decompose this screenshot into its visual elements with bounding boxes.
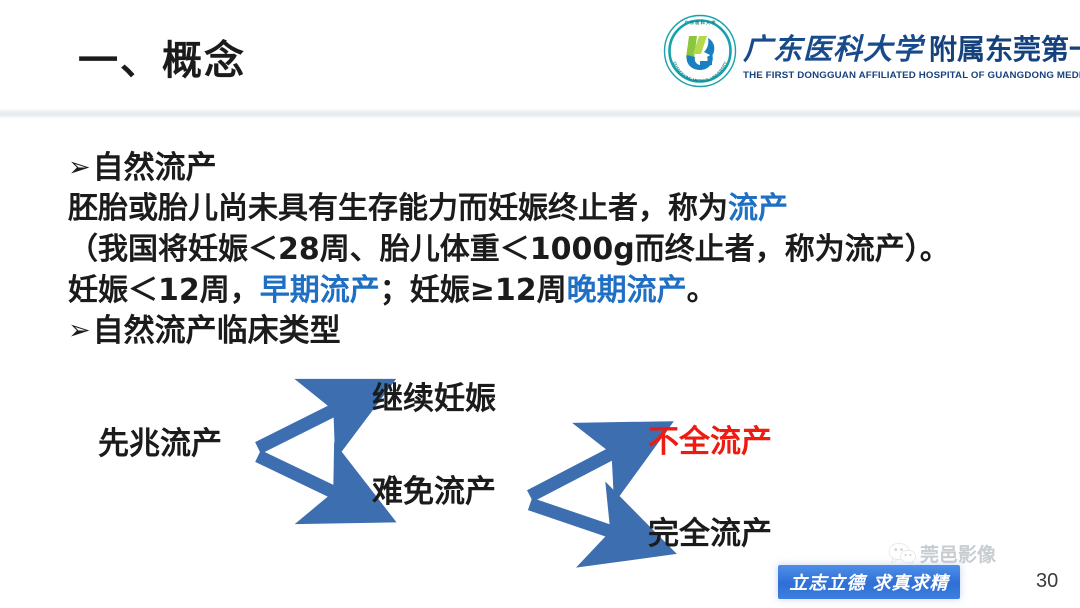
svg-text:广 东 医 科 大 学: 广 东 医 科 大 学 xyxy=(685,19,717,26)
slide-body: ➢ 自然流产 胚胎或胎儿尚未具有生存能力而妊娠终止者，称为流产 （我国将妊娠＜2… xyxy=(68,148,1028,351)
motto-text: 立志立德 求真求精 xyxy=(789,569,948,595)
flow-arrows xyxy=(0,368,1080,568)
flow-node-complete-abortion: 完全流产 xyxy=(648,508,772,553)
definition-line-3-b: ；妊娠≥12周 xyxy=(380,273,567,308)
heading-text: 自然流产临床类型 xyxy=(93,311,341,351)
hospital-university-name: 广东医科大学 xyxy=(743,26,923,68)
definition-line-3-a: 妊娠＜12周， xyxy=(68,273,260,308)
bullet-heading-natural-abortion: ➢ 自然流产 xyxy=(68,148,1028,188)
bullet-arrow-icon: ➢ xyxy=(68,311,91,351)
definition-line-1-text: 胚胎或胎儿尚未具有生存能力而妊娠终止者，称为 xyxy=(68,191,728,226)
bullet-heading-clinical-types: ➢ 自然流产临床类型 xyxy=(68,311,1028,351)
definition-line-3-c: 。 xyxy=(687,273,717,308)
definition-line-2: （我国将妊娠＜28周、胎儿体重＜1000g而终止者，称为流产）。 xyxy=(68,229,1028,270)
heading-text: 自然流产 xyxy=(93,148,217,188)
hospital-emblem-icon: 广 东 医 科 大 学 GUANGDONG MEDICAL UNIVERSITY xyxy=(663,14,737,88)
hospital-logo: 广 东 医 科 大 学 GUANGDONG MEDICAL UNIVERSITY… xyxy=(663,12,1075,90)
flow-node-threatened-abortion: 先兆流产 xyxy=(98,418,222,463)
definition-line-3-early-highlight: 早期流产 xyxy=(260,273,380,308)
bullet-arrow-icon: ➢ xyxy=(68,148,91,188)
motto-banner: 立志立德 求真求精 xyxy=(778,565,960,599)
definition-line-3-late-highlight: 晚期流产 xyxy=(567,273,687,308)
hospital-affiliate-name: 附属东莞第一医院 xyxy=(929,28,1080,68)
hospital-name-english: THE FIRST DONGGUAN AFFILIATED HOSPITAL O… xyxy=(743,70,1080,81)
definition-line-2-text: （我国将妊娠＜28周、胎儿体重＜1000g而终止者，称为流产）。 xyxy=(68,232,950,267)
page-title: 一、概念 xyxy=(78,28,246,86)
flow-node-incomplete-abortion: 不全流产 xyxy=(648,416,772,461)
definition-line-3: 妊娠＜12周，早期流产；妊娠≥12周晚期流产。 xyxy=(68,270,1028,311)
hospital-logo-text: 广东医科大学 附属东莞第一医院 THE FIRST DONGGUAN AFFIL… xyxy=(743,22,1080,81)
flow-node-inevitable-abortion: 难免流产 xyxy=(372,466,496,511)
abortion-type-flow-diagram: 先兆流产 继续妊娠 难免流产 不全流产 完全流产 xyxy=(0,368,1080,568)
header-divider xyxy=(0,108,1080,119)
definition-line-1: 胚胎或胎儿尚未具有生存能力而妊娠终止者，称为流产 xyxy=(68,188,1028,229)
slide-canvas: 一、概念 广 东 医 科 大 学 GUANGDONG MEDICAL UNIVE… xyxy=(0,0,1080,608)
page-number: 30 xyxy=(1036,570,1058,593)
definition-line-1-highlight: 流产 xyxy=(728,191,788,226)
flow-node-continued-pregnancy: 继续妊娠 xyxy=(372,373,496,418)
